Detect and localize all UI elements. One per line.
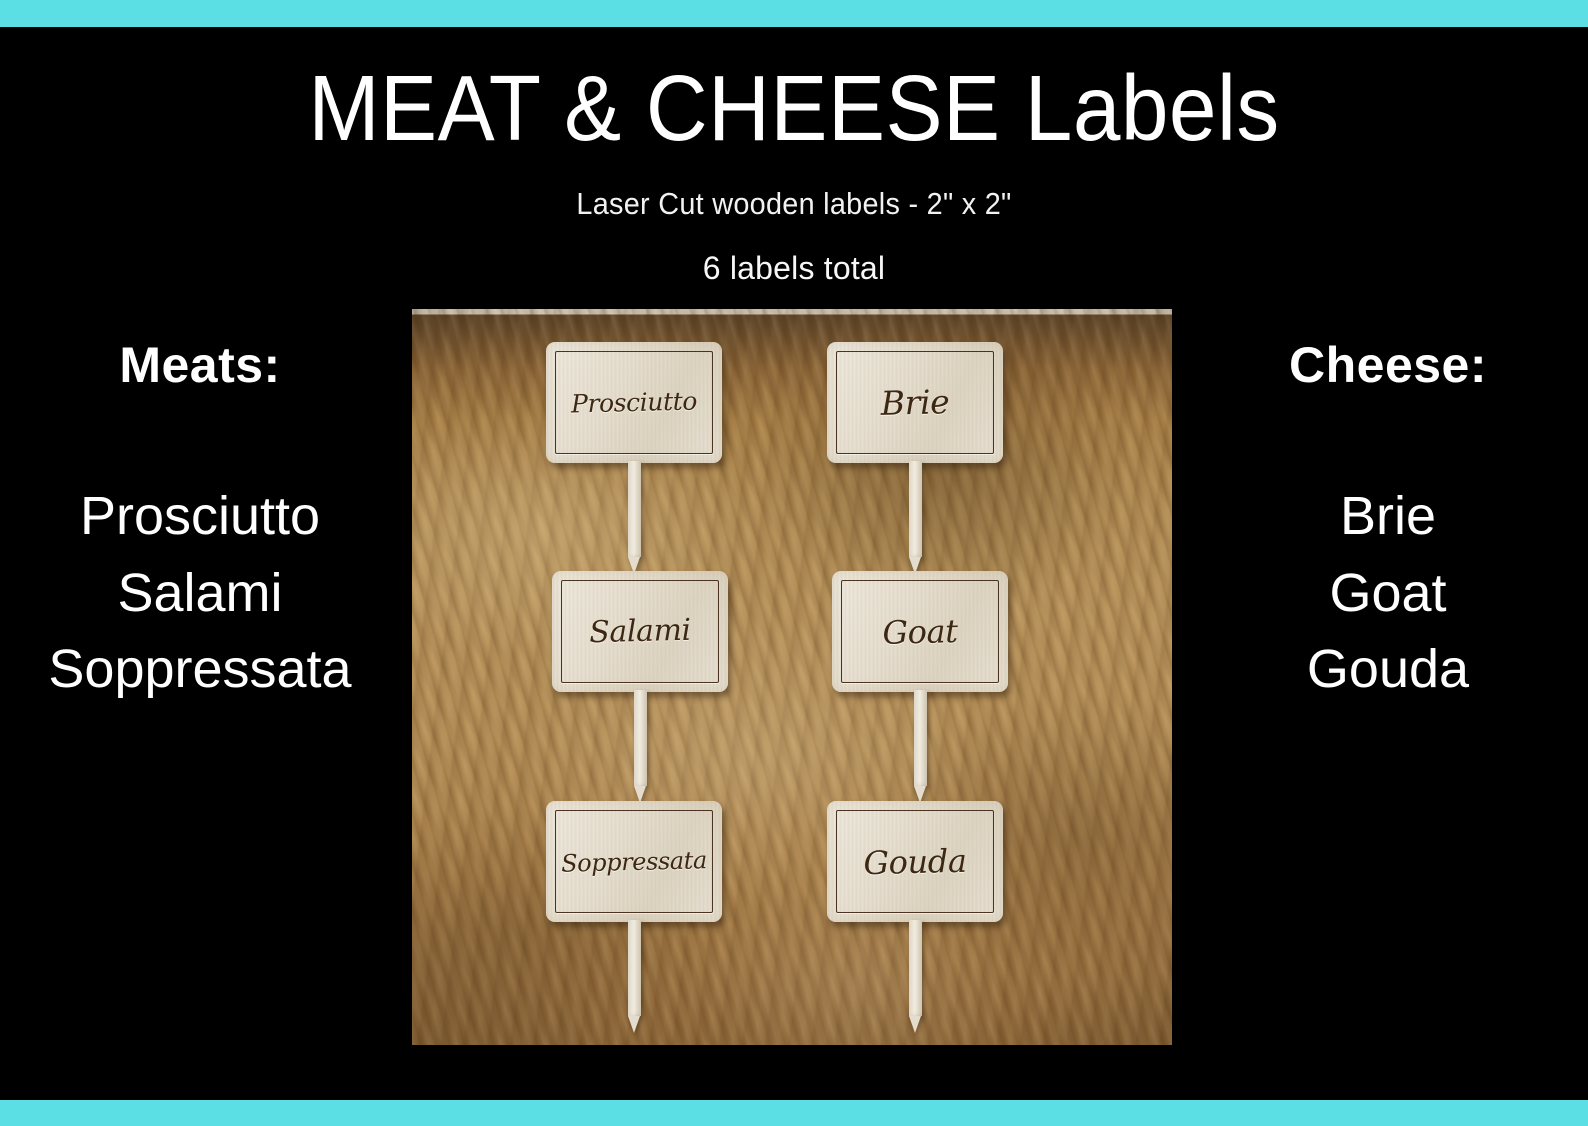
label-count: 6 labels total [0, 250, 1588, 287]
bottom-accent-band [0, 1100, 1588, 1126]
tag-stake [914, 690, 927, 786]
label-tag-salami: Salami [552, 571, 728, 786]
list-item: Prosciutto [0, 478, 400, 555]
list-item: Soppressata [0, 631, 400, 708]
meats-list: Prosciutto Salami Soppressata [0, 478, 400, 708]
tag-engraved-text: Brie [826, 340, 1005, 465]
tag-plate: Brie [827, 342, 1003, 463]
tag-plate: Goat [832, 571, 1008, 692]
tag-stake [909, 920, 922, 1016]
product-listing-graphic: MEAT & CHEESE Labels Laser Cut wooden la… [0, 0, 1588, 1126]
tag-engraved-text: Gouda [826, 799, 1005, 924]
tag-plate: Gouda [827, 801, 1003, 922]
tag-stake [628, 920, 641, 1016]
subtitle: Laser Cut wooden labels - 2" x 2" [56, 186, 1533, 222]
tag-engraved-text: Soppressata [545, 799, 724, 924]
list-item: Goat [1188, 555, 1588, 632]
tag-stake [909, 461, 922, 557]
page-title: MEAT & CHEESE Labels [64, 62, 1525, 155]
list-item: Gouda [1188, 631, 1588, 708]
meats-column: Meats: Prosciutto Salami Soppressata [0, 340, 400, 708]
label-tag-gouda: Gouda [827, 801, 1003, 1016]
tag-plate: Salami [552, 571, 728, 692]
photo-vignette [412, 309, 1172, 1045]
tag-plate: Soppressata [546, 801, 722, 922]
meats-heading: Meats: [0, 340, 400, 390]
tag-plate: Prosciutto [546, 342, 722, 463]
list-item: Brie [1188, 478, 1588, 555]
tag-stake [628, 461, 641, 557]
cheese-column: Cheese: Brie Goat Gouda [1188, 340, 1588, 708]
label-tag-goat: Goat [832, 571, 1008, 786]
label-tag-brie: Brie [827, 342, 1003, 557]
label-tag-soppressata: Soppressata [546, 801, 722, 1016]
tag-stake [634, 690, 647, 786]
list-item: Salami [0, 555, 400, 632]
tag-engraved-text: Prosciutto [545, 340, 724, 465]
tag-engraved-text: Goat [831, 569, 1010, 694]
cheese-list: Brie Goat Gouda [1188, 478, 1588, 708]
product-photo: Prosciutto Brie Salami Goat [412, 309, 1172, 1045]
label-tag-prosciutto: Prosciutto [546, 342, 722, 557]
tag-engraved-text: Salami [551, 569, 730, 694]
top-accent-band [0, 0, 1588, 27]
cheese-heading: Cheese: [1188, 340, 1588, 390]
